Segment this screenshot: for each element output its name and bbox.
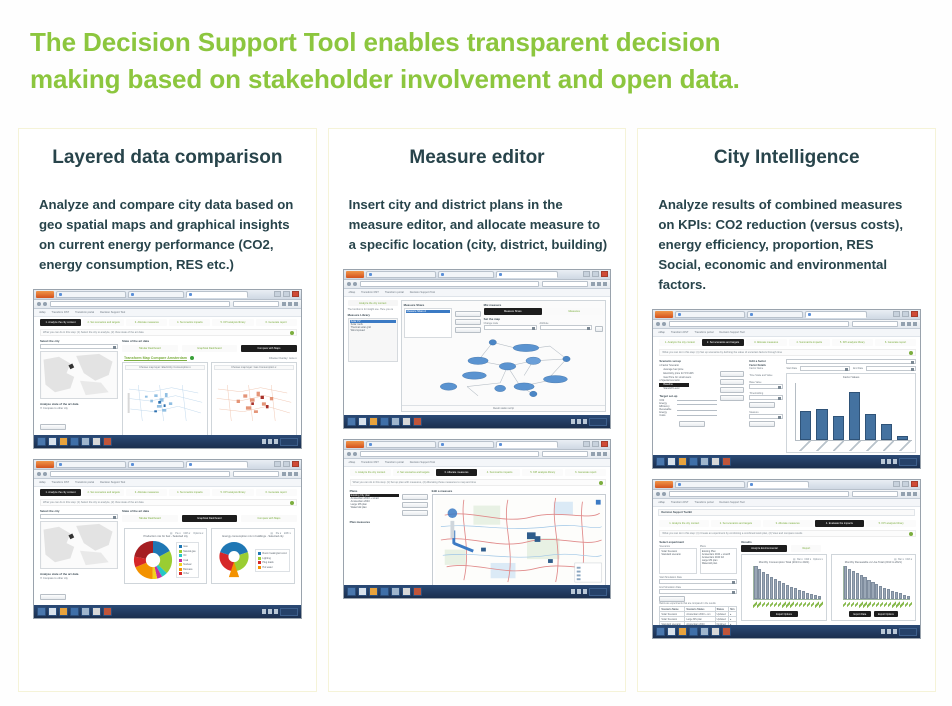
nav-buttons[interactable] [37, 472, 47, 476]
search-input[interactable] [852, 491, 898, 497]
minimize-icon[interactable] [893, 311, 900, 317]
taskbar-item-icon[interactable] [700, 457, 709, 466]
back-icon[interactable] [347, 282, 351, 286]
taskbar-item-icon[interactable] [358, 587, 367, 596]
wizard-step-3[interactable]: 3. Allocate measures [746, 339, 787, 346]
system-tray[interactable] [571, 418, 607, 426]
wizard-step-2[interactable]: 2. Set scenarios and targets [83, 489, 124, 496]
nav-buttons[interactable] [656, 322, 666, 326]
tab-measure-share[interactable]: Measure Share [484, 308, 542, 315]
bookmark-item[interactable]: oMap [658, 501, 665, 504]
end-date-input[interactable] [659, 589, 737, 594]
map-card[interactable]: Choose map layer: Gas Consumption ▾ [211, 362, 297, 435]
system-tray[interactable] [881, 458, 917, 466]
url-input[interactable] [669, 321, 849, 327]
maximize-icon[interactable] [592, 441, 599, 447]
tab-report[interactable]: Report [791, 545, 821, 552]
forward-icon[interactable] [662, 492, 666, 496]
slider-row[interactable]: Costs [659, 414, 717, 417]
taskbar-item-icon[interactable] [70, 437, 79, 446]
measure-select[interactable] [749, 414, 783, 419]
taskbar-item-icon[interactable] [678, 457, 687, 466]
tray-icon[interactable] [571, 419, 575, 424]
minimize-icon[interactable] [893, 481, 900, 487]
tab-analyze-environmental[interactable]: Analyze Environmental [741, 545, 787, 552]
wizard-step-1[interactable]: 1. Analyze the city context [350, 469, 391, 476]
browser-tab-active[interactable] [186, 291, 248, 298]
street-map[interactable] [432, 494, 607, 585]
taskbar-item-icon[interactable] [70, 607, 79, 616]
bookmark-item[interactable]: Transform portal [75, 481, 94, 484]
start-date-input[interactable] [659, 579, 737, 584]
firefox-menu-button[interactable] [655, 311, 673, 318]
wizard-step-1[interactable]: 1. Analyze the city context [659, 520, 709, 527]
minimize-icon[interactable] [274, 461, 281, 467]
system-tray[interactable] [262, 608, 298, 616]
maximize-icon[interactable] [283, 291, 290, 297]
wizard-step-3[interactable]: 3. Allocate measures [436, 469, 477, 476]
gear-icon[interactable] [599, 481, 603, 485]
browser-tab[interactable] [56, 291, 126, 298]
add-scenario-button[interactable] [720, 371, 744, 377]
edit-button[interactable] [720, 387, 744, 393]
url-input[interactable] [50, 301, 230, 307]
chart-card-consumption-mix[interactable]: ▤Pie ▾kWh ▾ Energy consumption mix in bu… [211, 528, 294, 584]
wizard-steps[interactable]: 1. Analyze the city context 2. Set scena… [653, 518, 920, 529]
taskbar-item-icon[interactable] [48, 607, 57, 616]
forward-icon[interactable] [662, 322, 666, 326]
browser-tab[interactable] [128, 291, 184, 298]
bookmark-item[interactable]: Transform DST [52, 481, 70, 484]
toolbar-icons[interactable] [901, 322, 917, 326]
add-button[interactable] [402, 494, 428, 500]
taskbar-item-icon[interactable] [722, 627, 731, 636]
chart-unit-select[interactable]: kWh ▾ [906, 558, 912, 561]
taskbar-item-icon[interactable] [700, 627, 709, 636]
taskbar-item-icon[interactable] [711, 457, 720, 466]
browser-tab[interactable] [128, 461, 184, 468]
wizard-step-3[interactable]: 3. Allocate measures [126, 319, 167, 326]
dashboard-subtabs[interactable]: Tabular Dashboard Graphical Dashboard Co… [122, 514, 297, 524]
remove-button[interactable] [749, 421, 775, 427]
subtab-compare-maps[interactable]: Compare with Maps [241, 345, 297, 352]
back-icon[interactable] [37, 472, 41, 476]
compare-checkbox[interactable]: ☐ Compare to other city [40, 407, 118, 410]
nav-buttons[interactable] [656, 492, 666, 496]
bookmark-item[interactable]: Transform DST [52, 311, 70, 314]
home-icon[interactable] [597, 282, 601, 286]
close-icon[interactable] [911, 311, 918, 317]
bookmark-item[interactable]: Decision Support Tool [100, 311, 125, 314]
taskbar-item-icon[interactable] [48, 437, 57, 446]
chart-options-select[interactable]: Options ▾ [193, 532, 203, 535]
bookmark-item[interactable]: oMap [39, 481, 46, 484]
export-options-button[interactable]: Export Options [874, 611, 898, 617]
thresholding-input[interactable] [749, 395, 783, 400]
wizard-step-5[interactable]: 5. KPI analysis library [212, 489, 253, 496]
browser-tab[interactable] [438, 441, 494, 448]
wizard-step-4[interactable]: 4. Summarize impacts [169, 489, 210, 496]
city-select[interactable] [40, 514, 118, 519]
nav-buttons[interactable] [37, 302, 47, 306]
list-item-selected[interactable]: Measure Share A [406, 310, 450, 313]
tray-icon[interactable] [881, 629, 885, 634]
url-input[interactable] [669, 491, 849, 497]
taskbar-item-icon[interactable] [380, 587, 389, 596]
menu-icon[interactable] [603, 282, 607, 286]
bookmark-item[interactable]: Transform DST [361, 461, 379, 464]
chart-card-consumption[interactable]: ▤Bar ▾kWh ▾Options ▾ Monthly Consumption… [741, 554, 826, 621]
taskbar-item-icon[interactable] [402, 417, 411, 426]
window-controls[interactable] [583, 271, 608, 277]
wizard-step-5[interactable]: 5. KPI analysis library [866, 520, 916, 527]
wizard-steps[interactable]: 1. Analyze the city context 2. Set scena… [34, 317, 301, 328]
taskbar-item-icon[interactable] [380, 417, 389, 426]
list-item[interactable]: Wind spread [350, 329, 396, 332]
bookmark-item[interactable]: Transform portal [385, 461, 404, 464]
share-list[interactable]: Measure Share A [404, 308, 452, 338]
maximize-icon[interactable] [902, 311, 909, 317]
maximize-icon[interactable] [902, 481, 909, 487]
export-data-button[interactable]: Export Data [849, 611, 871, 617]
export-options-button[interactable]: Export Options [770, 611, 798, 617]
list-item[interactable]: Water/old plan [350, 506, 399, 509]
bookmark-item[interactable]: Decision Support Tool [719, 331, 744, 334]
factor-values-chart[interactable]: Factor Values [786, 373, 916, 453]
screenshot-measure-network[interactable]: oMap Transform DST Transform portal Deci… [343, 269, 612, 429]
wizard-step-1[interactable]: 1. Analyze the city context [40, 489, 81, 496]
tray-icon[interactable] [583, 589, 587, 594]
base-value-input[interactable] [749, 384, 783, 389]
tray-icon[interactable] [887, 629, 891, 634]
chart-unit-select[interactable]: kWh ▾ [284, 532, 291, 535]
taskbar-item-icon[interactable] [689, 627, 698, 636]
chart-options-select[interactable]: Options ▾ [813, 558, 823, 561]
mix-tabs[interactable]: Measure Share Measures [484, 308, 604, 315]
tray-icon[interactable] [274, 439, 278, 444]
close-icon[interactable] [601, 441, 608, 447]
tray-icon[interactable] [893, 459, 897, 464]
slider-track[interactable] [677, 415, 717, 416]
toolbar-icons[interactable] [282, 472, 298, 476]
subtab-graphical[interactable]: Graphical Dashboard [182, 345, 238, 352]
bookmark-item[interactable]: Transform DST [361, 291, 379, 294]
scenario-buttons[interactable] [720, 359, 746, 454]
bookmark-item[interactable]: Decision Support Tool [719, 501, 744, 504]
browser-tab[interactable] [675, 311, 745, 318]
taskbar-item-icon[interactable] [358, 417, 367, 426]
taskbar-item-icon[interactable] [92, 607, 101, 616]
bookmark-item[interactable]: oMap [349, 461, 356, 464]
factor-name-input[interactable] [786, 359, 916, 364]
subtab-tabular[interactable]: Tabular Dashboard [122, 345, 178, 352]
delete-button[interactable] [402, 510, 428, 516]
wizard-step-1[interactable]: 1. Analyze the city context [659, 339, 700, 346]
wizard-step-2[interactable]: 2. Set scenarios and targets [83, 319, 124, 326]
url-input[interactable] [360, 281, 540, 287]
wizard-step-4[interactable]: 4. Summarize impacts [169, 319, 210, 326]
tray-icon[interactable] [887, 459, 891, 464]
minimize-icon[interactable] [274, 291, 281, 297]
tray-icon[interactable] [268, 609, 272, 614]
close-icon[interactable] [292, 461, 299, 467]
dashboard-subtabs[interactable]: Tabular Dashboard Graphical Dashboard Co… [122, 344, 297, 354]
bookmark-item[interactable]: Decision Support Tool [410, 291, 435, 294]
chart-card-renewable[interactable]: ▤Bar ▾kWh ▾ Monthly Renewable vs Use Tot… [831, 554, 916, 621]
experiments-table[interactable]: Scenario NameScenario StatusStatusSim So… [659, 606, 737, 625]
windows-taskbar[interactable] [344, 585, 611, 598]
search-input[interactable] [233, 301, 279, 307]
browser-tab-active[interactable] [747, 481, 809, 488]
firefox-menu-button[interactable] [36, 291, 54, 298]
wizard-step-2[interactable]: 2. Set scenarios and targets [702, 339, 743, 346]
taskbar-item-icon[interactable] [81, 437, 90, 446]
bookmark-item[interactable]: Decision Support Tool [100, 481, 125, 484]
refresh-button[interactable] [40, 594, 66, 600]
system-tray[interactable] [571, 588, 607, 596]
minimize-icon[interactable] [583, 271, 590, 277]
scenario-tree[interactable]: ▾ Factor Scenario Average fuel price Ele… [659, 364, 717, 390]
bookmarks-bar[interactable]: oMap Transform DST Transform portal Deci… [344, 459, 611, 467]
bookmark-item[interactable]: oMap [39, 311, 46, 314]
search-input[interactable] [542, 281, 588, 287]
bookmark-item[interactable]: Decision Support Tool [410, 461, 435, 464]
network-graph[interactable] [402, 335, 606, 405]
wizard-steps[interactable]: 1. Analyze the city context 2. Set scena… [344, 467, 611, 478]
browser-tab-active[interactable] [496, 441, 558, 448]
browser-tab[interactable] [747, 311, 803, 318]
search-input[interactable] [852, 321, 898, 327]
firefox-menu-button[interactable] [346, 441, 364, 448]
tray-icon[interactable] [274, 609, 278, 614]
add-experiment-button[interactable] [659, 596, 685, 602]
home-icon[interactable] [288, 302, 292, 306]
bookmark-icon[interactable] [282, 472, 286, 476]
taskbar-item-icon[interactable] [711, 627, 720, 636]
browser-tab-active[interactable] [186, 461, 248, 468]
toolbar-icons[interactable] [591, 452, 607, 456]
compare-checkbox[interactable]: ☐ Compare to other city [40, 577, 118, 580]
bookmark-icon[interactable] [901, 492, 905, 496]
toolbar-icons[interactable] [901, 492, 917, 496]
menu-icon[interactable] [294, 302, 298, 306]
copy-button[interactable] [402, 502, 428, 508]
menu-icon[interactable] [913, 492, 917, 496]
firefox-menu-button[interactable] [346, 271, 364, 278]
screenshot-map-compare[interactable]: oMap Transform DST Transform portal Deci… [33, 289, 302, 449]
bookmarks-bar[interactable]: oMap Transform DST Transform portal Deci… [34, 309, 301, 317]
overlay-select[interactable]: Choose Overlay: none ▾ [269, 357, 297, 360]
url-input[interactable] [50, 471, 230, 477]
taskbar-item-icon[interactable] [667, 627, 676, 636]
toolbar-icons[interactable] [591, 282, 607, 286]
bookmarks-bar[interactable]: oMap Transform DST Transform portal Deci… [34, 479, 301, 487]
taskbar-start-icon[interactable] [37, 437, 46, 446]
plan-list[interactable]: Existing Plan Amsterdam 2040 + smart5 Am… [700, 548, 738, 574]
add-button[interactable] [455, 311, 481, 317]
taskbar-item-icon[interactable] [81, 607, 90, 616]
bookmark-item[interactable]: Transform portal [75, 311, 94, 314]
plan-list[interactable]: Existing City plan Amsterdam 2040 + smar… [350, 494, 399, 516]
wizard-steps[interactable]: 1. Analyze the city context 2. Set scena… [653, 337, 920, 348]
tray-icon[interactable] [577, 589, 581, 594]
share-buttons[interactable] [455, 303, 481, 338]
edit-button[interactable] [455, 319, 481, 325]
subtab-tabular[interactable]: Tabular Dashboard [122, 515, 178, 522]
slider-track[interactable] [677, 410, 717, 411]
bookmark-item[interactable]: Transform portal [694, 501, 713, 504]
tray-icon[interactable] [262, 609, 266, 614]
taskbar-item-icon[interactable] [722, 457, 731, 466]
delete-button[interactable] [455, 327, 481, 333]
gear-icon[interactable] [290, 331, 294, 335]
add-factor-button[interactable] [720, 379, 744, 385]
nav-buttons[interactable] [347, 282, 357, 286]
list-item[interactable]: Standard scenario [661, 553, 695, 556]
taskbar-item-icon[interactable] [59, 607, 68, 616]
bookmark-item[interactable]: Transform portal [385, 291, 404, 294]
map-layer-select[interactable]: Choose map layer: Gas Consumption ▾ [214, 365, 294, 370]
measure-list[interactable]: Solar PV Solar roofs Thermal solar grid … [348, 318, 398, 362]
browser-tab[interactable] [366, 441, 436, 448]
map-card[interactable]: Choose map layer: Electricity Consumptio… [122, 362, 208, 435]
taskbar-start-icon[interactable] [37, 607, 46, 616]
menu-icon[interactable] [913, 322, 917, 326]
end-date-input[interactable] [866, 366, 916, 371]
wizard-step-3[interactable]: 3. Allocate measures [763, 520, 813, 527]
back-icon[interactable] [347, 452, 351, 456]
attribute-select[interactable] [540, 325, 593, 330]
taskbar-item-icon[interactable] [103, 437, 112, 446]
close-icon[interactable] [292, 291, 299, 297]
taskbar-item-icon[interactable] [59, 437, 68, 446]
tray-icon[interactable] [262, 439, 266, 444]
firefox-menu-button[interactable] [655, 481, 673, 488]
bookmark-item[interactable]: Transform portal [694, 331, 713, 334]
wizard-step-6[interactable]: 6. Generate report [565, 469, 606, 476]
screenshot-scenario-factors[interactable]: oMap Transform DST Transform portal Deci… [652, 309, 921, 469]
taskbar-start-icon[interactable] [347, 587, 356, 596]
start-date-input[interactable] [800, 366, 850, 371]
new-targets-button[interactable] [679, 421, 705, 427]
bookmark-icon[interactable] [591, 282, 595, 286]
toolbar-icons[interactable] [282, 302, 298, 306]
wizard-step-2[interactable]: 2. Set scenarios and targets [711, 520, 761, 527]
window-controls[interactable] [893, 481, 918, 487]
overview-map[interactable] [40, 351, 118, 399]
wizard-step-6[interactable]: 6. Generate report [875, 339, 916, 346]
bookmark-item[interactable]: Transform DST [671, 501, 689, 504]
browser-tab-active[interactable] [805, 311, 867, 318]
taskbar-item-icon[interactable] [369, 587, 378, 596]
bookmarks-bar[interactable]: oMap Transform DST Transform portal Deci… [344, 289, 611, 297]
tray-icon[interactable] [583, 419, 587, 424]
forward-icon[interactable] [43, 302, 47, 306]
bookmark-item[interactable]: oMap [349, 291, 356, 294]
taskbar-item-icon[interactable] [413, 417, 422, 426]
wizard-step-2[interactable]: 2. Set scenarios and targets [393, 469, 434, 476]
browser-tab[interactable] [366, 271, 436, 278]
slider-track[interactable] [677, 400, 717, 401]
tray-icon[interactable] [268, 439, 272, 444]
wizard-step-5[interactable]: 5. KPI analysis library [832, 339, 873, 346]
subtab-graphical[interactable]: Graphical Dashboard [182, 515, 238, 522]
window-controls[interactable] [893, 311, 918, 317]
tray-icon[interactable] [577, 419, 581, 424]
taskbar-item-icon[interactable] [402, 587, 411, 596]
home-icon[interactable] [907, 492, 911, 496]
browser-tab[interactable] [438, 271, 494, 278]
wizard-step-6[interactable]: 6. Generate report [256, 319, 297, 326]
search-input[interactable] [542, 451, 588, 457]
windows-taskbar[interactable] [653, 625, 920, 638]
screenshot-donut-dashboard[interactable]: oMap Transform DST Transform portal Deci… [33, 459, 302, 619]
browser-tab[interactable] [56, 461, 126, 468]
window-controls[interactable] [274, 461, 299, 467]
home-icon[interactable] [907, 322, 911, 326]
wizard-step-4[interactable]: 4. Summarize impacts [789, 339, 830, 346]
windows-taskbar[interactable] [653, 455, 920, 468]
plan-buttons[interactable] [402, 494, 428, 516]
tray-icon[interactable] [571, 589, 575, 594]
tray-icon[interactable] [893, 629, 897, 634]
wizard-step-5[interactable]: 5. KPI analysis library [212, 319, 253, 326]
screenshot-measure-map[interactable]: oMap Transform DST Transform portal Deci… [343, 439, 612, 599]
tree-node[interactable]: Standoff Level [659, 387, 717, 391]
close-icon[interactable] [911, 481, 918, 487]
taskbar-item-icon[interactable] [413, 587, 422, 596]
taskbar-item-icon[interactable] [678, 627, 687, 636]
wizard-step-4[interactable]: 4. Summarize impacts [479, 469, 520, 476]
bookmark-icon[interactable] [282, 302, 286, 306]
browser-tab-active[interactable] [496, 271, 558, 278]
screenshot-kpi-results[interactable]: oMap Transform DST Transform portal Deci… [652, 479, 921, 639]
search-input[interactable] [233, 471, 279, 477]
forward-icon[interactable] [43, 472, 47, 476]
back-icon[interactable] [656, 492, 660, 496]
bookmark-item[interactable]: Transform DST [671, 331, 689, 334]
taskbar-start-icon[interactable] [656, 627, 665, 636]
maximize-icon[interactable] [592, 271, 599, 277]
tab-measures[interactable]: Measures [545, 308, 603, 315]
bookmark-icon[interactable] [591, 452, 595, 456]
system-tray[interactable] [262, 438, 298, 446]
wizard-step-6[interactable]: 6. Generate report [256, 489, 297, 496]
taskbar-item-icon[interactable] [92, 437, 101, 446]
map-image-gas[interactable] [214, 372, 294, 434]
gear-icon[interactable] [290, 501, 294, 505]
results-tabs[interactable]: Analyze Environmental Report [741, 545, 916, 552]
url-input[interactable] [360, 451, 540, 457]
back-icon[interactable] [37, 302, 41, 306]
window-controls[interactable] [274, 291, 299, 297]
menu-icon[interactable] [603, 452, 607, 456]
window-controls[interactable] [583, 441, 608, 447]
list-item[interactable]: Water/old plan [702, 562, 736, 565]
forward-icon[interactable] [353, 282, 357, 286]
forward-icon[interactable] [353, 452, 357, 456]
close-icon[interactable] [601, 271, 608, 277]
browser-tab[interactable] [675, 481, 745, 488]
home-icon[interactable] [597, 452, 601, 456]
taskbar-item-icon[interactable] [369, 417, 378, 426]
taskbar-item-icon[interactable] [391, 417, 400, 426]
slider-track[interactable] [677, 404, 717, 405]
map-layer-select[interactable]: Choose map layer: Electricity Consumptio… [125, 365, 205, 370]
map-image-electricity[interactable] [125, 372, 205, 434]
taskbar-item-icon[interactable] [391, 587, 400, 596]
chart-card-production-mix[interactable]: ▤Pie ▾kWh ▾Options ▾ Production mix for … [124, 528, 207, 584]
